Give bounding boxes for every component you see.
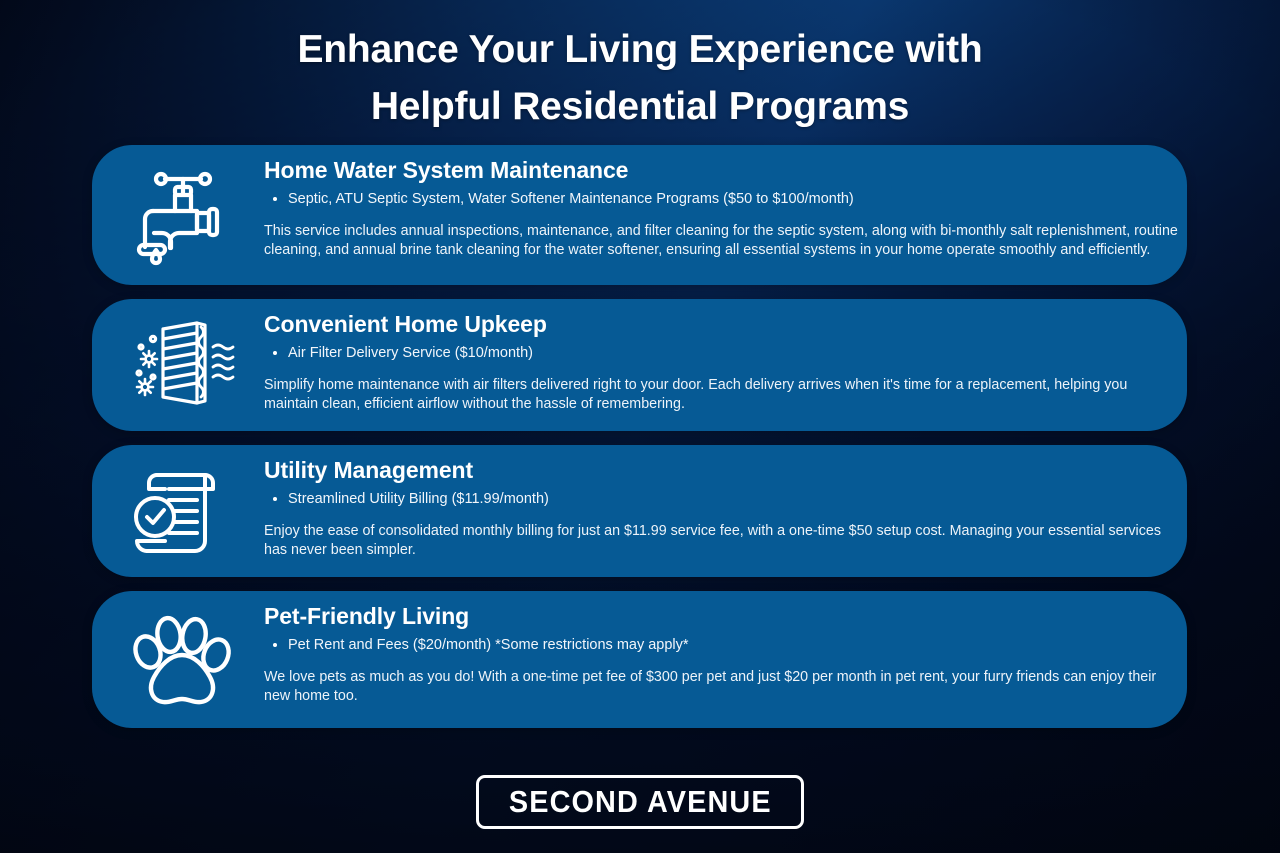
card-bullet-list: Pet Rent and Fees ($20/month) *Some rest… <box>264 635 1179 655</box>
card-title: Home Water System Maintenance <box>264 156 1179 184</box>
program-card-pet-friendly-living[interactable]: Pet-Friendly Living Pet Rent and Fees ($… <box>92 591 1187 728</box>
card-content: Home Water System Maintenance Septic, AT… <box>264 145 1187 259</box>
card-title: Utility Management <box>264 456 1179 484</box>
headline-line-1: Enhance Your Living Experience with <box>0 21 1280 78</box>
card-description: Simplify home maintenance with air filte… <box>264 376 1179 413</box>
program-card-home-water-system-maintenance[interactable]: Home Water System Maintenance Septic, AT… <box>92 145 1187 285</box>
card-description: This service includes annual inspections… <box>264 222 1179 259</box>
card-bullet: Streamlined Utility Billing ($11.99/mont… <box>264 489 1179 509</box>
card-bullet-list: Streamlined Utility Billing ($11.99/mont… <box>264 489 1179 509</box>
page-header: Enhance Your Living Experience with Help… <box>0 21 1280 135</box>
card-title: Convenient Home Upkeep <box>264 310 1179 338</box>
card-description: We love pets as much as you do! With a o… <box>264 668 1179 705</box>
card-description: Enjoy the ease of consolidated monthly b… <box>264 522 1179 559</box>
logo-text: SECOND AVENUE <box>509 785 772 818</box>
paw-print-icon <box>92 591 264 728</box>
card-content: Utility Management Streamlined Utility B… <box>264 445 1187 559</box>
card-bullet-list: Septic, ATU Septic System, Water Softene… <box>264 189 1179 209</box>
program-card-utility-management[interactable]: Utility Management Streamlined Utility B… <box>92 445 1187 577</box>
second-avenue-logo[interactable]: SECOND AVENUE <box>476 775 805 829</box>
program-card-convenient-home-upkeep[interactable]: Convenient Home Upkeep Air Filter Delive… <box>92 299 1187 431</box>
card-bullet: Air Filter Delivery Service ($10/month) <box>264 343 1179 363</box>
card-title: Pet-Friendly Living <box>264 602 1179 630</box>
card-bullet: Septic, ATU Septic System, Water Softene… <box>264 189 1179 209</box>
faucet-icon <box>92 145 264 285</box>
card-bullet-list: Air Filter Delivery Service ($10/month) <box>264 343 1179 363</box>
card-bullet: Pet Rent and Fees ($20/month) *Some rest… <box>264 635 1179 655</box>
program-card-list: Home Water System Maintenance Septic, AT… <box>92 145 1187 742</box>
air-filter-icon <box>92 299 264 431</box>
infographic-page: Enhance Your Living Experience with Help… <box>0 0 1280 853</box>
card-content: Pet-Friendly Living Pet Rent and Fees ($… <box>264 591 1187 705</box>
scroll-check-icon <box>92 445 264 577</box>
card-content: Convenient Home Upkeep Air Filter Delive… <box>264 299 1187 413</box>
headline-line-2: Helpful Residential Programs <box>0 78 1280 135</box>
page-footer: SECOND AVENUE <box>0 775 1280 829</box>
